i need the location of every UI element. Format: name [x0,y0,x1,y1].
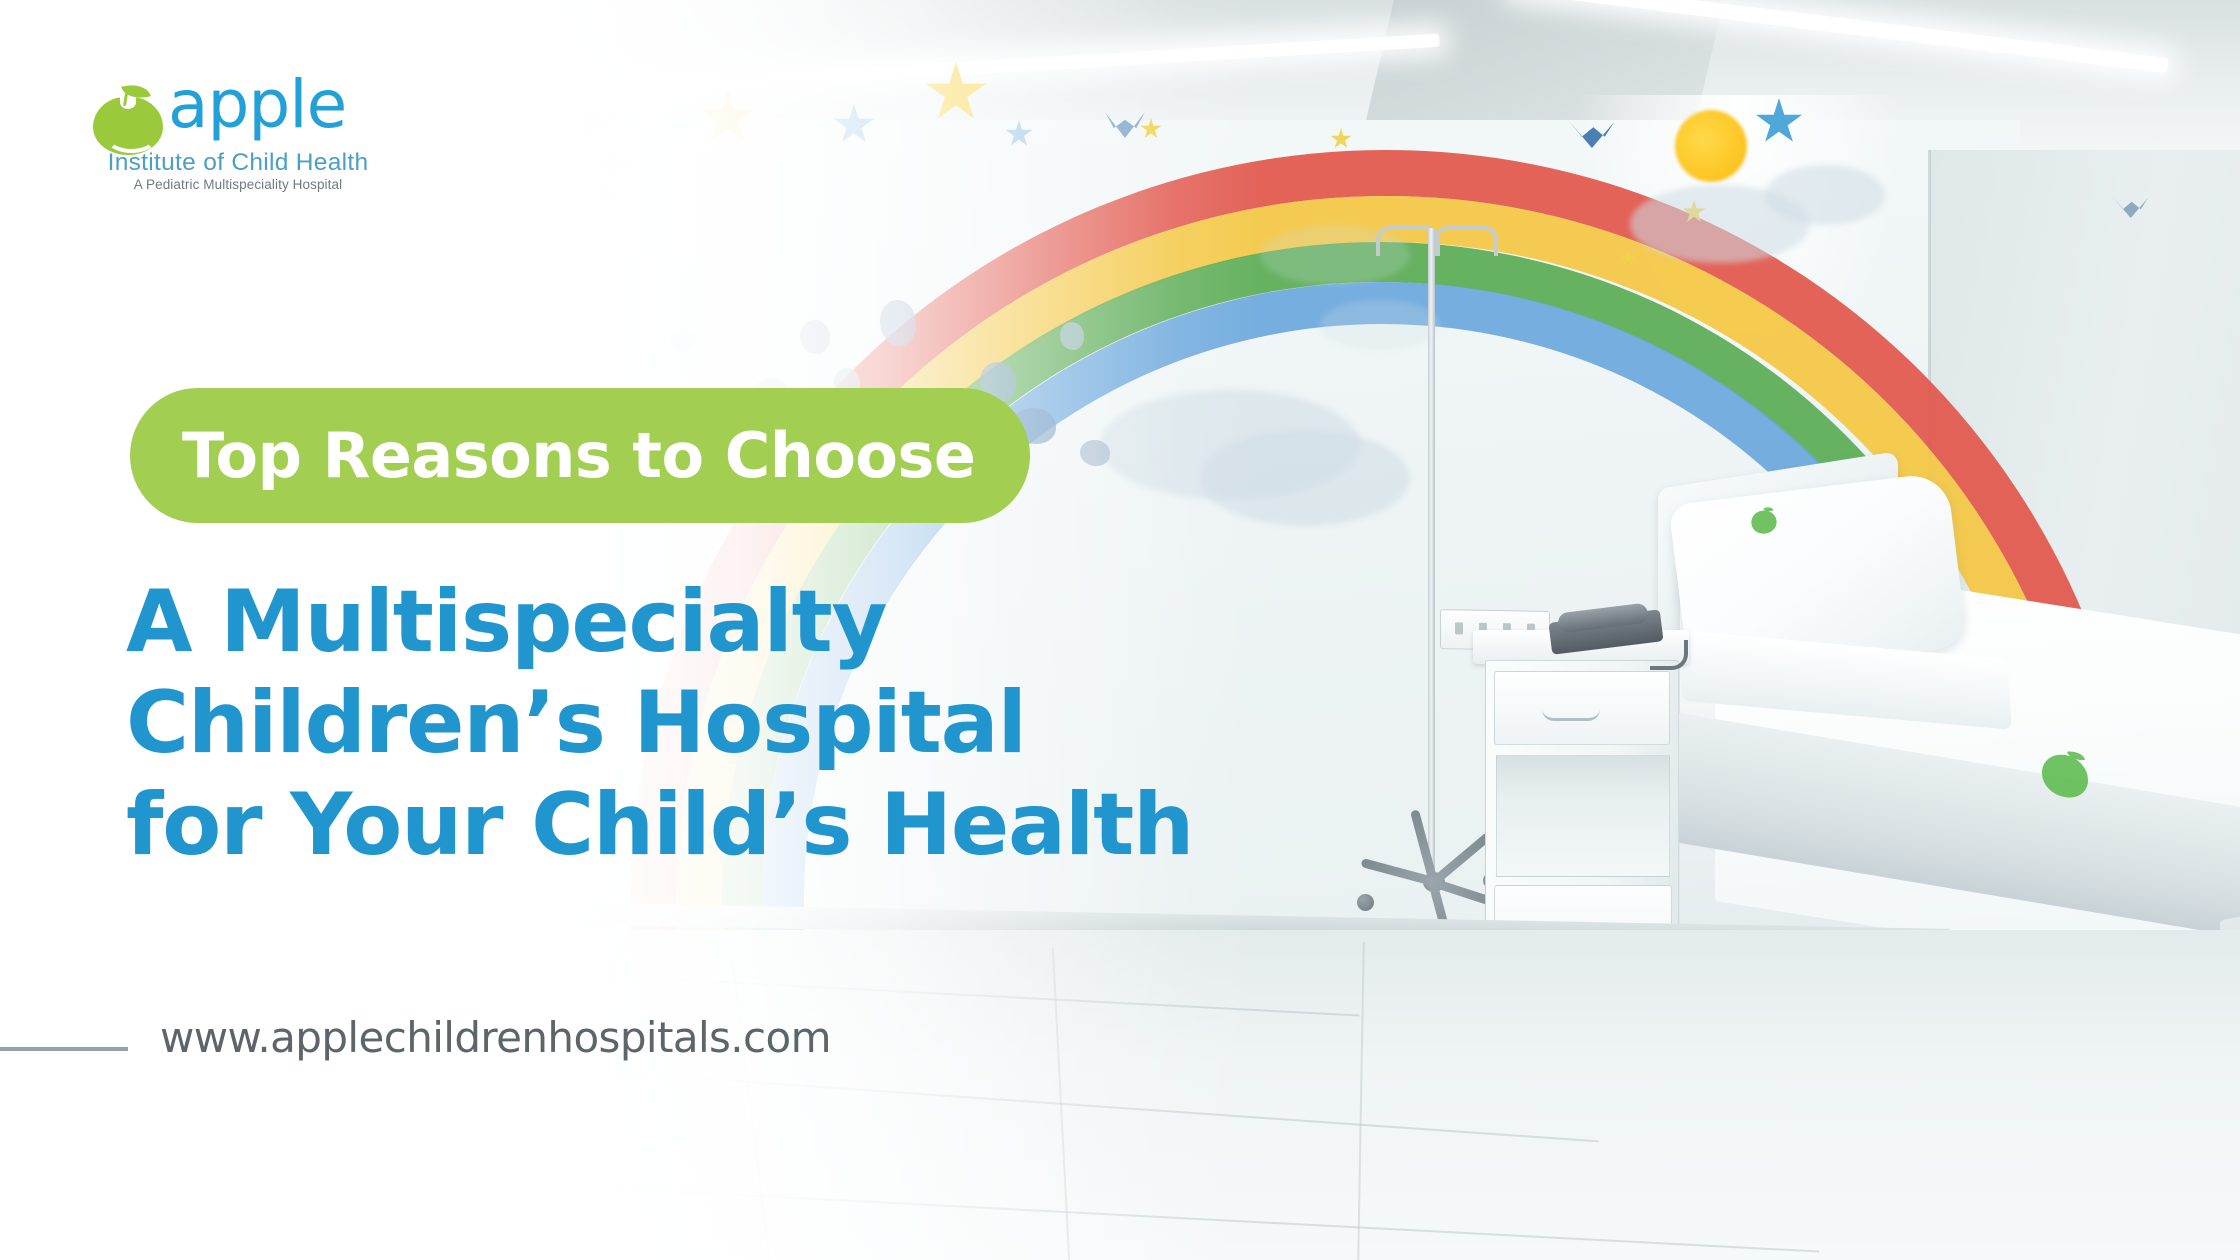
logo-tagline: A Pediatric Multispeciality Hospital [88,177,388,192]
butterfly-decal [1060,322,1084,350]
promo-banner: apple Institute of Child Health A Pediat… [0,0,2240,1260]
top-reasons-badge: Top Reasons to Choose [130,388,1030,523]
page-title: A Multispecialty Children’s Hospital for… [126,572,1306,876]
nightstand-drawer [1494,671,1670,745]
headline-line-3: for Your Child’s Health [126,775,1306,876]
sun-decal [1675,110,1747,182]
cloud-decal [1320,300,1440,350]
telephone [1550,608,1662,652]
butterfly-decal [670,330,694,352]
cloud-decal [1200,430,1410,526]
tiled-floor [500,930,2240,1260]
drawer-handle [1542,709,1600,721]
website-url[interactable]: www.applechildrenhospitals.com [160,1013,831,1062]
butterfly-decal [800,320,830,354]
headline-line-1: A Multispecialty [126,572,1306,673]
brand-logo[interactable]: apple Institute of Child Health A Pediat… [88,66,388,191]
badge-label: Top Reasons to Choose [182,425,975,487]
cloud-decal [1765,165,1885,225]
butterfly-decal [880,300,916,346]
apple-icon [93,83,163,155]
footer-divider [0,1047,128,1051]
logo-institute-line: Institute of Child Health [88,149,388,177]
headline-line-2: Children’s Hospital [126,673,1306,774]
apple-logo-on-mattress [2042,745,2100,802]
logo-wordmark: apple [168,72,346,138]
butterfly-decal [1080,440,1110,466]
apple-logo-on-pillow [1750,505,1785,535]
nightstand-shelf [1496,755,1670,877]
